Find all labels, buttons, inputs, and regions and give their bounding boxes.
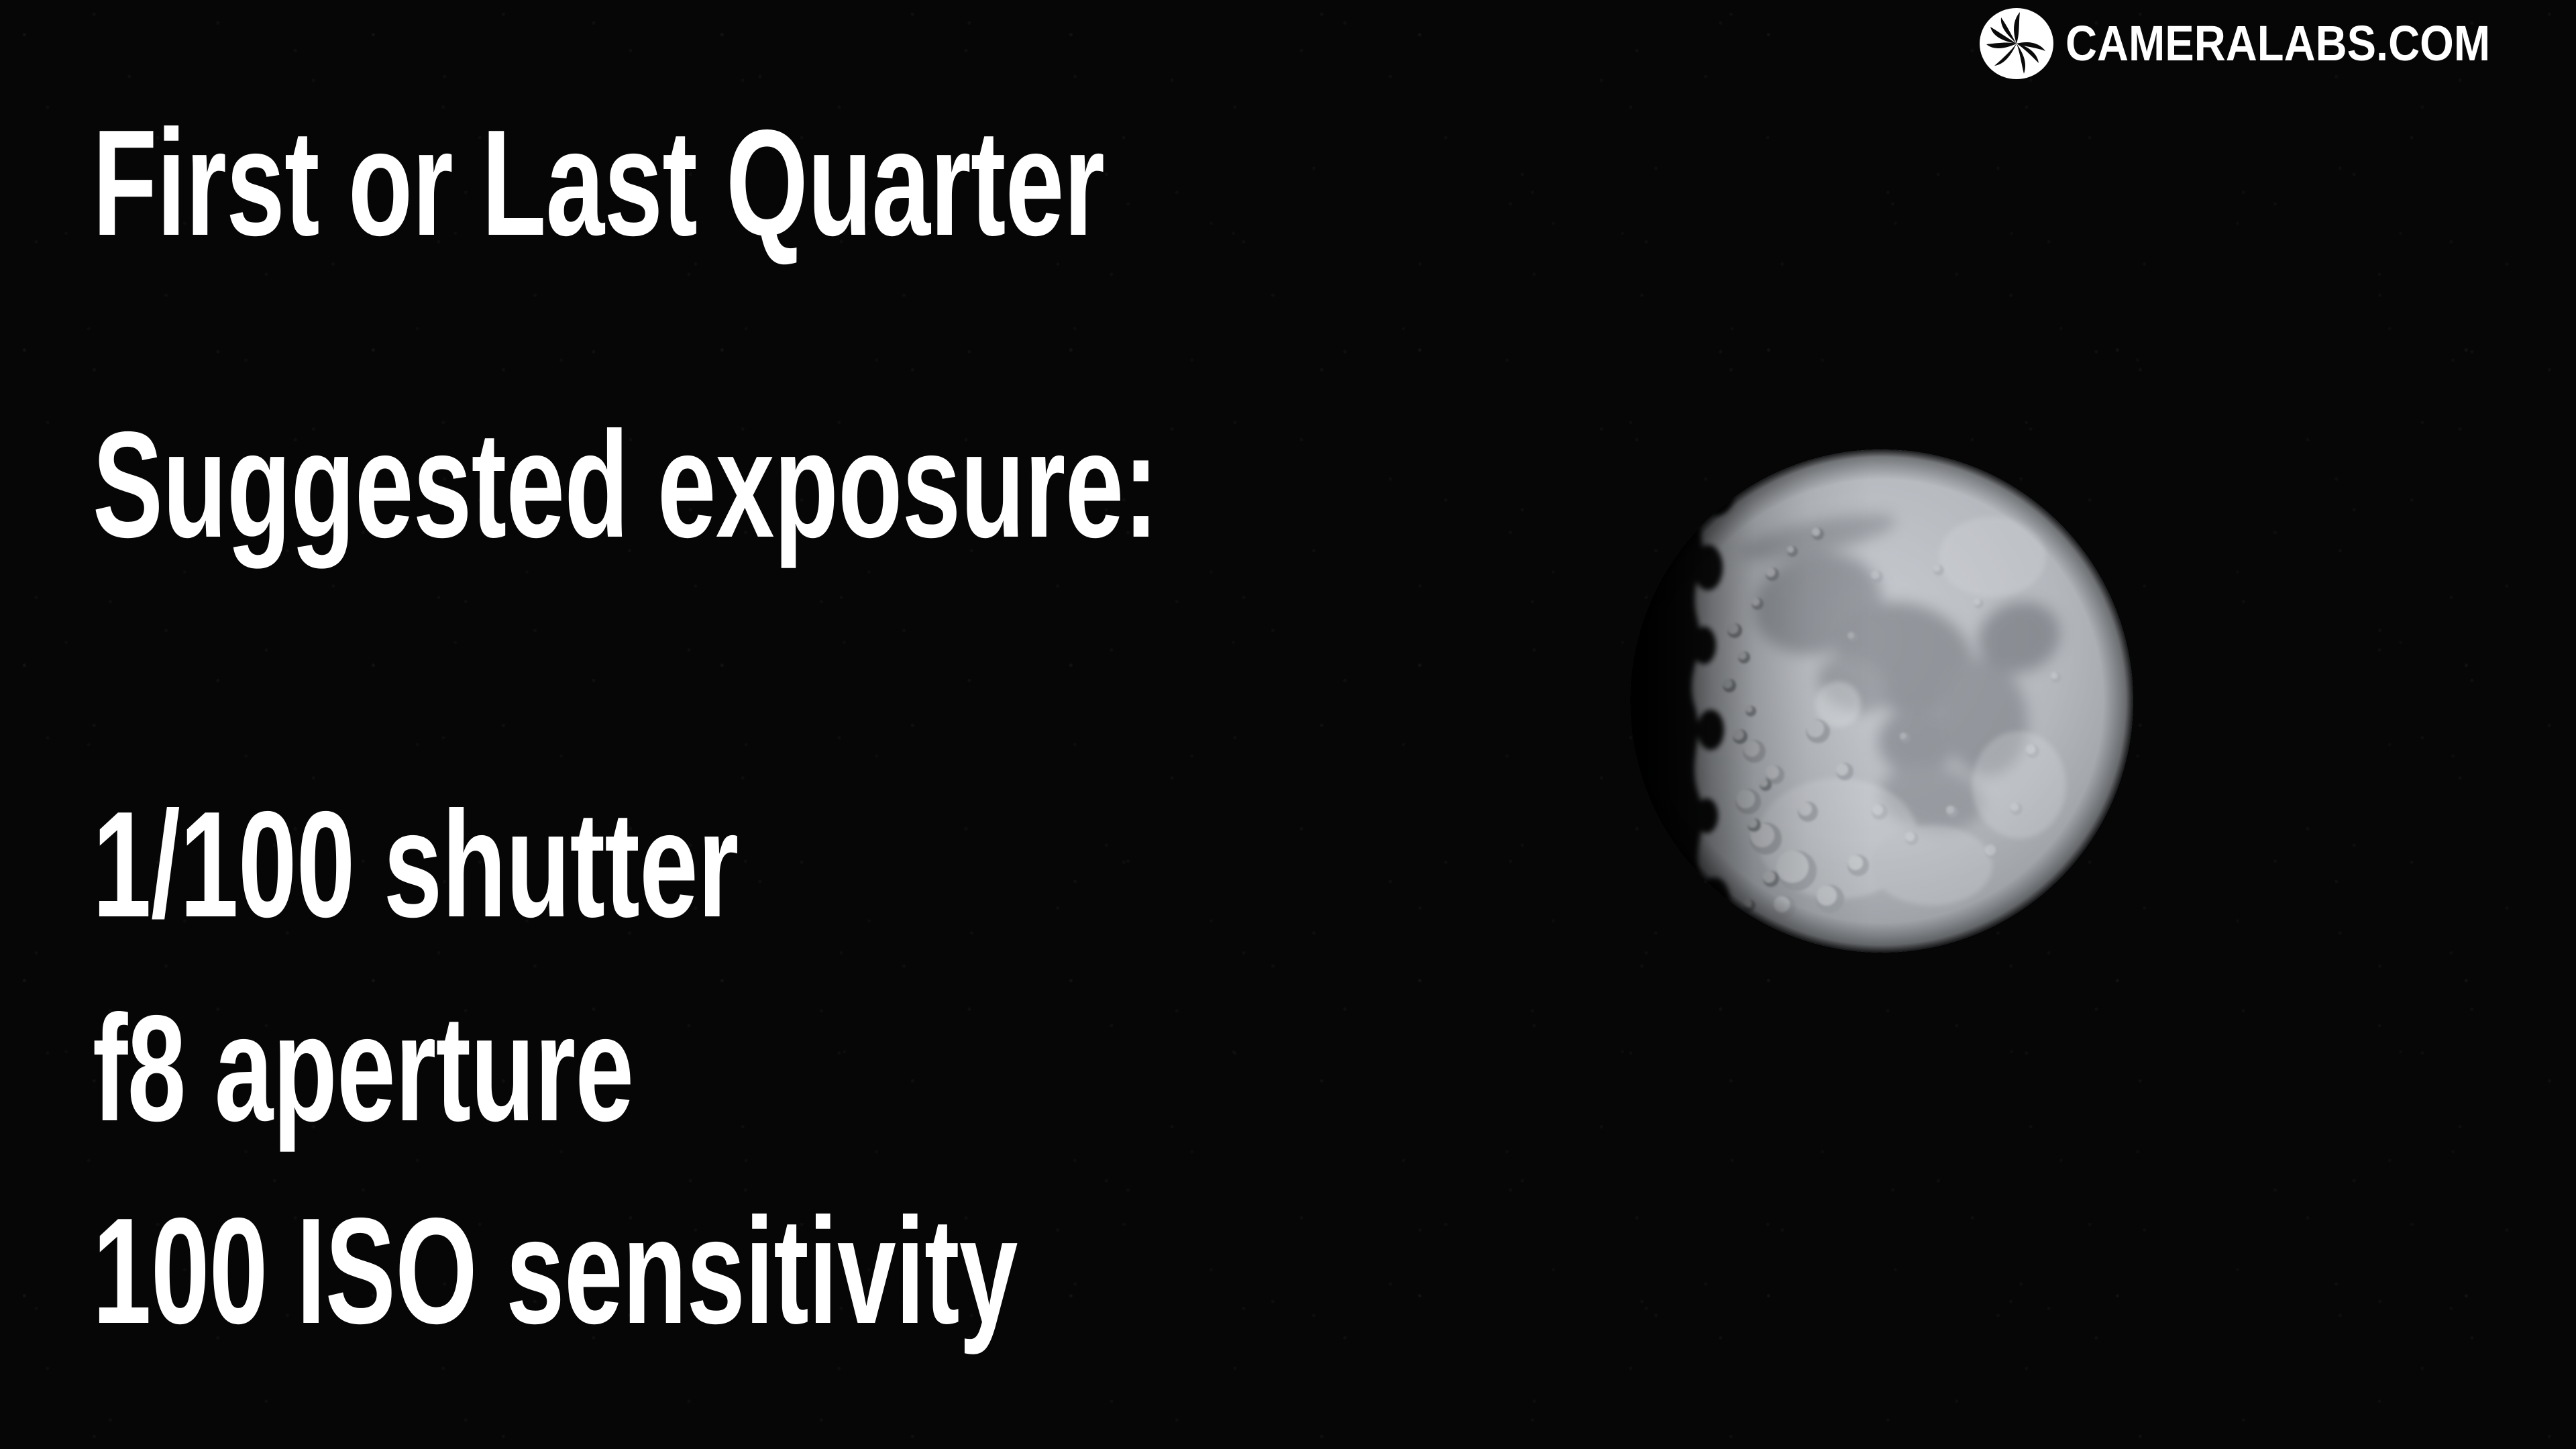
exposure-spec-aperture: f8 aperture [93,993,633,1144]
lunar-disc [1617,436,2147,966]
exposure-spec-iso: 100 ISO sensitivity [93,1195,1018,1346]
moon-photo [1617,436,2147,966]
aperture-pinwheel-icon [1978,7,2055,80]
moon-illustration [1617,436,2147,966]
limb-vignette [1630,449,2133,953]
suggested-exposure-heading: Suggested exposure: [93,409,1158,560]
cameralabs-wordmark: CAMERALABS.COM [2065,19,2490,68]
exposure-spec-shutter: 1/100 shutter [93,789,739,940]
cameralabs-watermark[interactable]: CAMERALABS.COM [1978,7,2548,80]
page-title: First or Last Quarter [93,107,1104,258]
slide-canvas: First or Last Quarter Suggested exposure… [0,0,2576,1449]
